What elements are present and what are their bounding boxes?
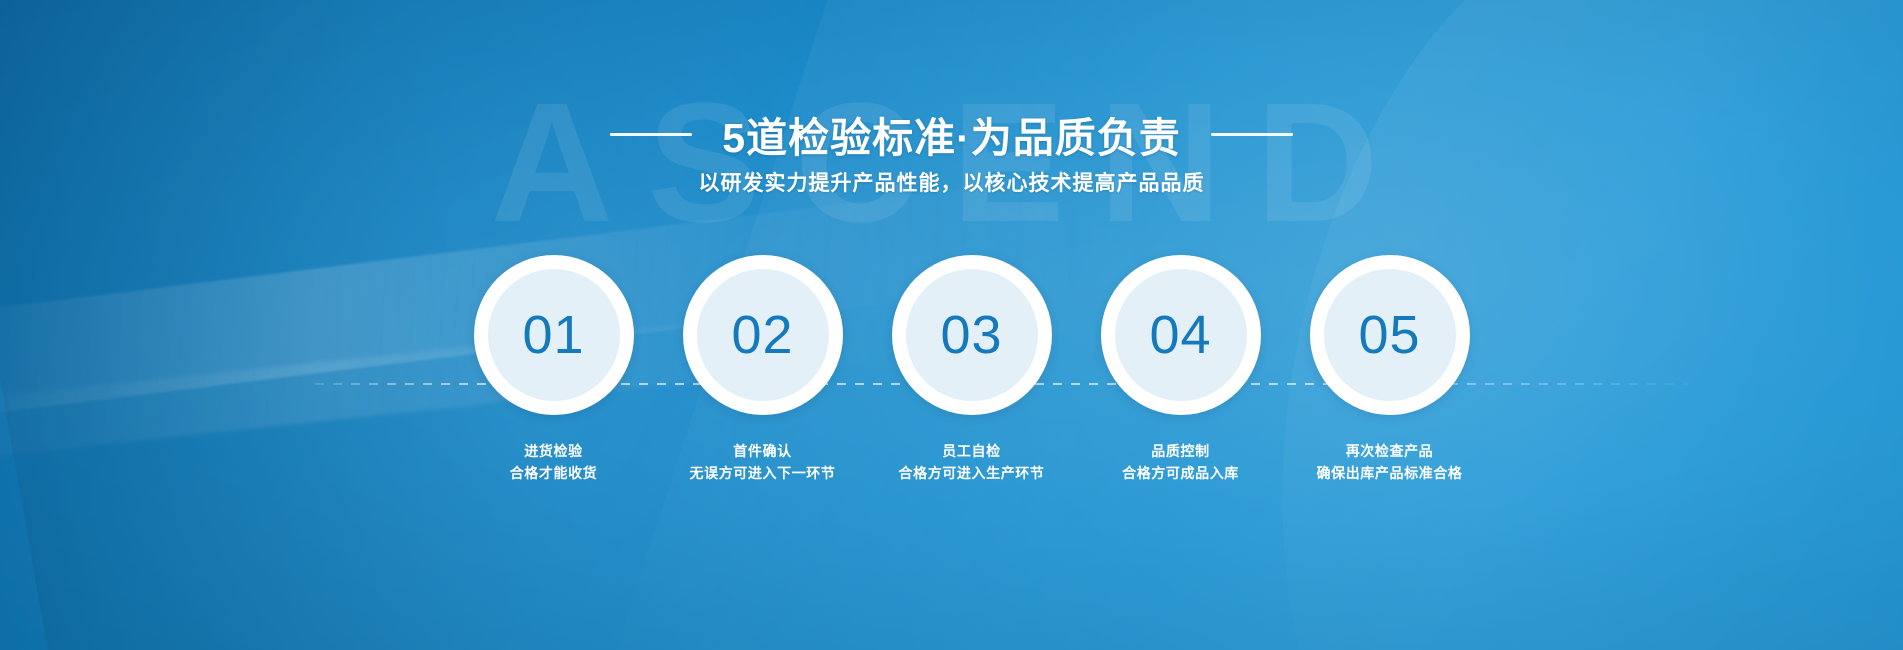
step-text-01: 进货检验 合格才能收货	[510, 441, 598, 484]
process-step-04[interactable]: 04 品质控制 合格方可成品入库	[1097, 255, 1264, 484]
process-steps-area: 01 进货检验 合格才能收货 02 首件确认 无误方可进入下一环节	[0, 255, 1903, 505]
step-circle-inner-03: 03	[906, 269, 1038, 401]
step-circle-inner-04: 04	[1115, 269, 1247, 401]
step-circle-05: 05	[1310, 255, 1470, 415]
step-description-05: 确保出库产品标准合格	[1317, 463, 1463, 485]
process-steps-list: 01 进货检验 合格才能收货 02 首件确认 无误方可进入下一环节	[0, 255, 1903, 484]
page-title: 5道检验标准·为品质负责	[722, 104, 1180, 164]
step-circle-04: 04	[1101, 255, 1261, 415]
title-rule-left-decoration	[610, 133, 692, 136]
title-row: 5道检验标准·为品质负责	[0, 104, 1903, 164]
quality-standards-banner: ASCEND 5道检验标准·为品质负责 以研发实力提升产品性能，以核心技术提高产…	[0, 0, 1903, 650]
step-title-05: 再次检查产品	[1317, 441, 1463, 463]
step-text-05: 再次检查产品 确保出库产品标准合格	[1317, 441, 1463, 484]
step-number-04: 04	[1149, 308, 1211, 362]
step-title-04: 品质控制	[1122, 441, 1239, 463]
step-number-02: 02	[731, 308, 793, 362]
step-number-01: 01	[522, 308, 584, 362]
step-description-04: 合格方可成品入库	[1122, 463, 1239, 485]
step-circle-inner-05: 05	[1324, 269, 1456, 401]
step-description-02: 无误方可进入下一环节	[690, 463, 836, 485]
process-step-05[interactable]: 05 再次检查产品 确保出库产品标准合格	[1306, 255, 1473, 484]
step-text-02: 首件确认 无误方可进入下一环节	[690, 441, 836, 484]
step-text-03: 员工自检 合格方可进入生产环节	[899, 441, 1045, 484]
process-step-03[interactable]: 03 员工自检 合格方可进入生产环节	[888, 255, 1055, 484]
step-circle-03: 03	[892, 255, 1052, 415]
step-number-05: 05	[1358, 308, 1420, 362]
step-title-03: 员工自检	[899, 441, 1045, 463]
step-circle-inner-01: 01	[488, 269, 620, 401]
step-description-01: 合格才能收货	[510, 463, 598, 485]
step-circle-inner-02: 02	[697, 269, 829, 401]
step-title-01: 进货检验	[510, 441, 598, 463]
page-subtitle: 以研发实力提升产品性能，以核心技术提高产品品质	[0, 167, 1903, 197]
step-text-04: 品质控制 合格方可成品入库	[1122, 441, 1239, 484]
step-number-03: 03	[940, 308, 1002, 362]
step-title-02: 首件确认	[690, 441, 836, 463]
step-circle-01: 01	[474, 255, 634, 415]
process-step-01[interactable]: 01 进货检验 合格才能收货	[470, 255, 637, 484]
step-description-03: 合格方可进入生产环节	[899, 463, 1045, 485]
process-step-02[interactable]: 02 首件确认 无误方可进入下一环节	[679, 255, 846, 484]
title-rule-right-decoration	[1211, 133, 1293, 136]
step-circle-02: 02	[683, 255, 843, 415]
